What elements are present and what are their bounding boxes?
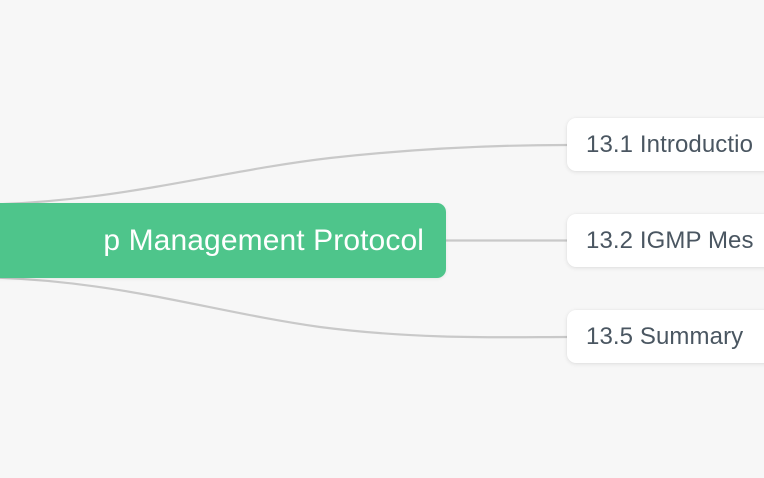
connector-root-to-intro	[0, 145, 567, 205]
child-node-label-igmp-messages: 13.2 IGMP Mes	[586, 229, 754, 253]
mindmap-canvas[interactable]: p Management Protocol 13.1 Introductio 1…	[0, 0, 764, 478]
root-node-label: p Management Protocol	[103, 226, 424, 256]
child-node-label-introduction: 13.1 Introductio	[586, 133, 753, 157]
root-node-internet-group-management-protocol[interactable]: p Management Protocol	[0, 203, 446, 278]
child-node-summary[interactable]: 13.5 Summary	[567, 310, 764, 363]
connector-root-to-summary	[0, 277, 567, 337]
child-node-igmp-messages[interactable]: 13.2 IGMP Mes	[567, 214, 764, 267]
child-node-introduction[interactable]: 13.1 Introductio	[567, 118, 764, 171]
child-node-label-summary: 13.5 Summary	[586, 325, 743, 349]
